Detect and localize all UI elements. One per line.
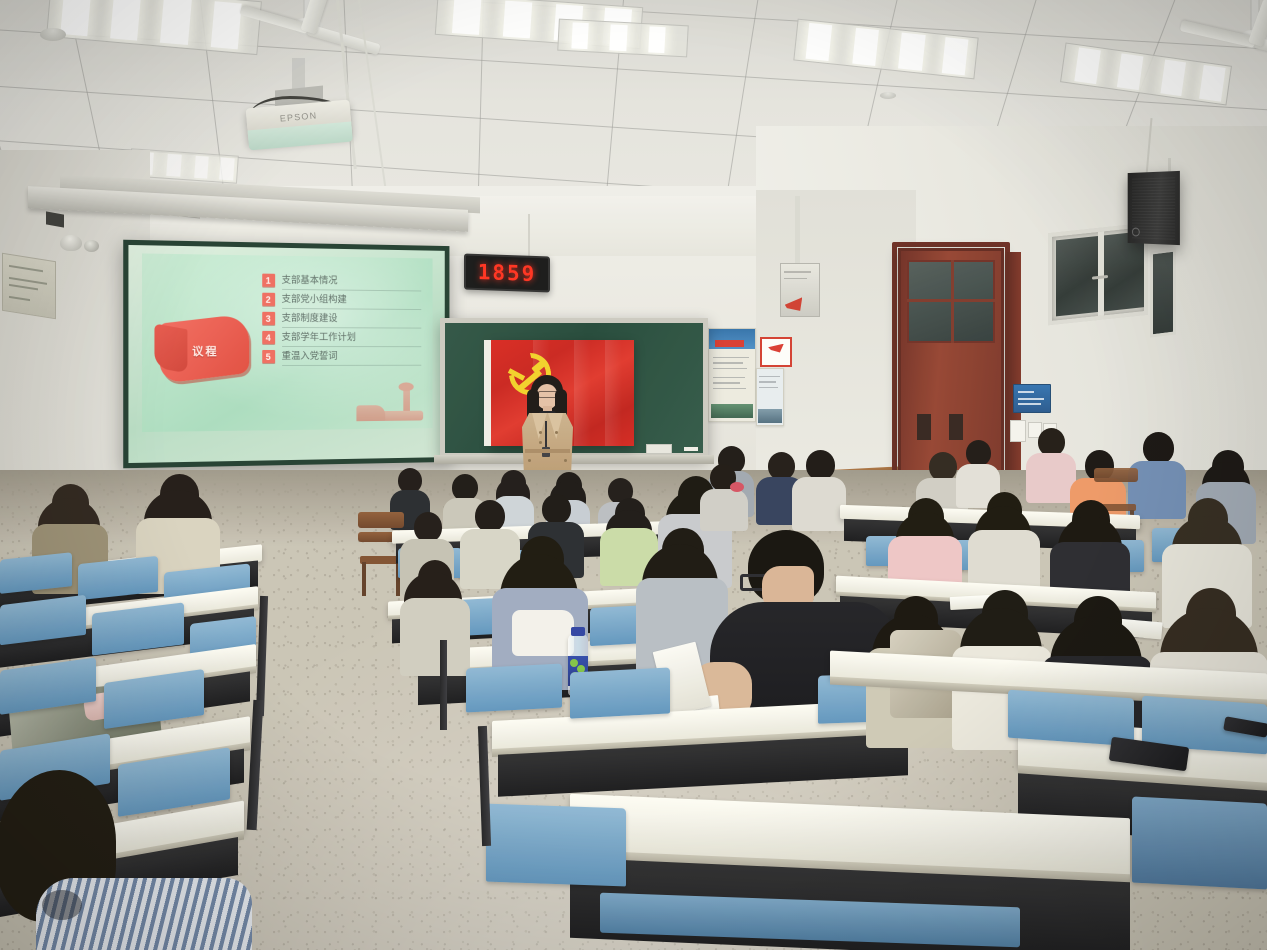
- agenda-item-label: 支部学年工作计划: [282, 329, 422, 347]
- clock-hanger: [528, 214, 530, 258]
- wall-poster: [708, 328, 756, 422]
- agenda-item-label: 支部党小组构建: [282, 291, 422, 310]
- agenda-number: 4: [262, 331, 275, 344]
- wall-notice-sign: [2, 253, 56, 320]
- student: [792, 450, 846, 530]
- agenda-item-label: 支部制度建设: [282, 310, 422, 329]
- smoke-detector-icon: [40, 28, 66, 41]
- ceiling-fan: [248, 0, 368, 60]
- electrical-conduit: [795, 196, 800, 266]
- ceiling-fan: [1185, 0, 1267, 68]
- lecture-seat[interactable]: [466, 663, 562, 712]
- presentation-slide: 议程 1 支部基本情况 2 支部党小组构建 3 支部制度建设: [142, 254, 433, 432]
- clock-digits: 1859: [478, 260, 537, 286]
- wall-poster-emblem: [760, 337, 792, 367]
- agenda-number: 3: [262, 312, 275, 325]
- room-number-plate: [1013, 384, 1051, 413]
- agenda-number: 5: [262, 350, 275, 363]
- lecture-seat[interactable]: [570, 667, 670, 718]
- agenda-list: 1 支部基本情况 2 支部党小组构建 3 支部制度建设 4 支部学年工作计划: [262, 272, 422, 367]
- slide-skyline-decoration: [331, 364, 427, 426]
- security-camera-icon: [84, 240, 99, 252]
- chalk-stick: [684, 447, 698, 451]
- list-item: 1 支部基本情况: [262, 272, 422, 291]
- chalk-eraser: [646, 444, 672, 454]
- electrical-box: [780, 263, 820, 317]
- lecture-seat[interactable]: [1132, 796, 1267, 889]
- student: [700, 464, 748, 528]
- agenda-number: 2: [262, 293, 275, 306]
- agenda-item-label: 支部基本情况: [282, 272, 422, 292]
- agenda-heading: 议程: [160, 342, 250, 358]
- desk-leg: [440, 640, 447, 730]
- agenda-flag-graphic: 议程: [160, 318, 250, 378]
- speaker-icon: [1128, 171, 1180, 245]
- list-item: 5 重温入党誓词: [262, 348, 422, 366]
- projector-icon: EPSON: [246, 100, 353, 145]
- lecture-seat[interactable]: [486, 804, 626, 887]
- screen-surface: 议程 1 支部基本情况 2 支部党小组构建 3 支部制度建设: [128, 245, 444, 463]
- window-icon: [1150, 248, 1176, 337]
- student: [1026, 428, 1076, 502]
- security-camera-icon: [60, 235, 82, 251]
- digital-clock-icon: 1859: [464, 253, 550, 292]
- ceiling-light-panel: [557, 19, 688, 58]
- classroom-photo: EPSON 议程 1 支部基本情况: [0, 0, 1267, 950]
- wall-poster: [756, 368, 784, 426]
- list-item: 3 支部制度建设: [262, 310, 422, 328]
- smoke-detector-icon: [880, 92, 896, 99]
- projection-screen: 议程 1 支部基本情况 2 支部党小组构建 3 支部制度建设: [123, 240, 449, 469]
- presenter: [519, 375, 575, 483]
- list-item: 2 支部党小组构建: [262, 291, 422, 310]
- student: [400, 560, 470, 672]
- student-foreground: [0, 770, 260, 950]
- agenda-number: 1: [262, 274, 275, 287]
- list-item: 4 支部学年工作计划: [262, 329, 422, 347]
